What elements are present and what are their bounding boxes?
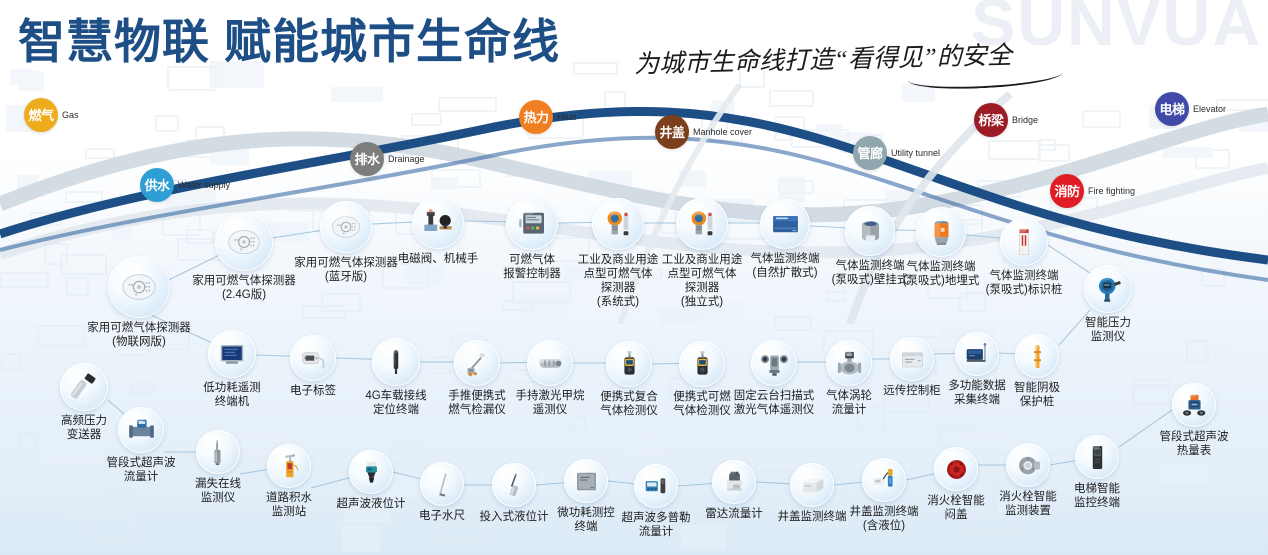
product-node-smart-pressure-monitor[interactable]: 智能压力 监测仪 [1063,265,1153,344]
background-block [503,300,534,311]
brand-watermark: SUNVUA [971,0,1262,60]
badge-heat-pill: 热力 [519,100,553,134]
cathodic-post-icon [1024,343,1051,370]
solenoid-valve-manipulator-bubble[interactable] [412,197,464,249]
electronic-tag-label: 电子标签 [290,384,336,398]
badge-heat-en-label: Heat [557,112,576,122]
background-block [826,291,846,302]
antenna-icon [381,347,411,377]
pipe-ultrasonic-flowmeter-label: 管段式超声波 流量计 [107,456,176,484]
smoke-detector-icon [120,268,158,306]
badge-fire-fighting[interactable]: 消防Fire fighting [1050,174,1135,208]
background-block [1239,114,1268,132]
hydrant-ring-icon [1015,452,1042,479]
portable-multi-gas-detector-bubble[interactable] [606,341,652,387]
smart-cathodic-post-label: 智能阴极 保护桩 [1014,381,1060,409]
poster-canvas: SUNVUA 燃气Gas供水Water supply排水Drainage热力He… [0,0,1268,555]
badge-heat[interactable]: 热力Heat [519,100,576,134]
badge-fire-fighting-pill: 消防 [1050,174,1084,208]
home-gas-detector-bluetooth-bubble[interactable] [320,201,372,253]
badge-bridge-en-label: Bridge [1012,115,1038,125]
background-block [431,177,458,189]
background-block [303,305,345,319]
pipe-flowmeter-icon [127,416,156,445]
product-node-low-power-telemetry-terminal[interactable]: 低功耗遥测 终端机 [187,330,277,409]
laser-gun-icon [536,349,565,378]
controller-panel-icon [516,208,548,240]
smoke-detector-icon [330,211,362,243]
ptz-laser-scanner-label: 固定云台扫描式 激光气体遥测仪 [734,389,815,417]
badge-utility-tunnel-en-label: Utility tunnel [891,148,940,158]
radar-flowmeter-icon [721,469,748,496]
valve-icon [422,207,454,239]
portable-detector-icon [688,350,717,379]
handheld-laser-methane-label: 手持激光甲烷 遥测仪 [516,389,585,417]
home-gas-detector-24g-bubble[interactable] [215,213,273,271]
telemetry-box-icon [217,339,247,369]
background-block [321,293,361,312]
doppler-icon [643,473,670,500]
cabinet-icon [899,346,926,373]
background-block [778,180,814,194]
hydrant-ring-icon [1015,452,1042,479]
rfid-tag-icon [299,344,328,373]
radar-flowmeter-icon [721,469,748,496]
gas-sensor-icon [602,208,634,240]
4g-vehicle-locator-label: 4G车载接线 定位终端 [365,389,426,417]
background-block [1,353,21,370]
background-block [659,308,703,325]
pump-buried-icon [926,217,957,248]
gas-turbine-flowmeter-bubble[interactable] [826,340,872,386]
product-node-4g-vehicle-locator[interactable]: 4G车载接线 定位终端 [350,338,442,417]
data-collector-icon [964,341,991,368]
background-block [573,62,618,75]
low-power-telemetry-terminal-bubble[interactable] [208,330,256,378]
background-block [10,69,34,85]
badge-elevator-pill: 电梯 [1155,92,1189,126]
background-block [0,272,49,288]
submersible-level-meter-label: 投入式液位计 [480,510,549,524]
probe-stick-icon [205,439,232,466]
water-ruler-icon [429,471,456,498]
background-block [679,170,706,187]
solenoid-valve-manipulator-label: 电磁阀、机械手 [398,252,479,266]
background-block [155,115,179,132]
doppler-icon [643,473,670,500]
background-block [331,87,383,102]
ultrasonic-doppler-flowmeter-label: 超声波多普勒 流量计 [622,511,691,539]
background-block [567,416,586,433]
waterlog-station-icon [276,453,303,480]
hydrant-cap-icon [943,456,970,483]
hydrant-cap-icon [943,456,970,483]
background-block [411,113,442,126]
rfid-tag-icon [299,344,328,373]
trolley-detector-icon [463,349,492,378]
pump-wall-icon [855,216,886,247]
hydrant-smart-monitor-label: 消火栓智能 监测装置 [999,490,1057,518]
background-block [769,90,814,107]
smoke-detector-icon [330,211,362,243]
wall-terminal-icon [770,209,801,240]
badge-fire-fighting-en-label: Fire fighting [1088,186,1135,196]
badge-drainage-pill: 排水 [350,142,384,176]
portable-multi-gas-detector-label: 便携式复合 气体检测仪 [600,390,658,418]
level-meter-icon [358,459,385,486]
badge-utility-tunnel[interactable]: 管廊Utility tunnel [853,136,940,170]
background-block [431,169,481,188]
badge-bridge[interactable]: 桥梁Bridge [974,103,1038,137]
multifunction-data-terminal-bubble[interactable] [955,332,999,376]
pump-buried-icon [926,217,957,248]
radar-flowmeter-bubble[interactable] [712,460,756,504]
background-block [195,126,225,147]
industrial-gas-detector-ind-bubble[interactable] [676,198,728,250]
badge-gas-pill: 燃气 [24,98,58,132]
pressure-transmitter-icon [69,372,99,402]
cathodic-post-icon [1024,343,1051,370]
electronic-water-ruler-label: 电子水尺 [419,509,465,523]
background-block [588,171,632,188]
background-block [167,66,217,91]
trolley-detector-icon [463,349,492,378]
electronic-tag-bubble[interactable] [290,335,336,381]
ultrasonic-doppler-flowmeter-bubble[interactable] [634,464,678,508]
ptz-laser-scanner-bubble[interactable] [751,340,797,386]
radar-flowmeter-label: 雷达流量计 [705,507,763,521]
control-box-icon [573,468,600,495]
portable-detector-icon [688,350,717,379]
background-block [65,191,103,203]
road-waterlog-station-label: 道路积水 监测站 [266,491,312,519]
badge-manhole-cover[interactable]: 井盖Manhole cover [655,115,752,149]
level-meter-icon [358,459,385,486]
badge-gas-en-label: Gas [62,110,79,120]
pipe-ultrasonic-heat-meter-label: 管段式超声波 热量表 [1160,430,1229,458]
background-block [131,383,155,395]
background-block [816,124,842,142]
probe-stick-icon [205,439,232,466]
4g-vehicle-locator-bubble[interactable] [372,338,420,386]
pressure-transmitter-icon [69,372,99,402]
product-node-elevator-smart-terminal[interactable]: 电梯智能 监控终端 [1053,435,1141,510]
valve-icon [422,207,454,239]
ptz-camera-icon [760,349,789,378]
badge-drainage-en-label: Drainage [388,154,425,164]
gas-monitor-pump-post-label: 气体监测终端 (泵吸式)标识桩 [986,269,1063,297]
turbine-flowmeter-icon [835,349,864,378]
pipe-flowmeter-icon [127,416,156,445]
background-block [85,148,115,159]
telemetry-box-icon [217,339,247,369]
road-waterlog-station-bubble[interactable] [267,444,311,488]
wall-terminal-icon [770,209,801,240]
data-collector-icon [964,341,991,368]
cabinet-icon [899,346,926,373]
manhole-monitor-terminal-bubble[interactable] [790,463,834,507]
background-block [1201,268,1225,287]
background-block [774,316,812,331]
push-gas-leak-detector-bubble[interactable] [454,340,500,386]
manhole-level-icon [871,467,898,494]
background-block [112,226,132,239]
antenna-icon [381,347,411,377]
portable-detector-icon [615,350,644,379]
background-block [19,432,36,451]
badge-bridge-pill: 桥梁 [974,103,1008,137]
submersible-icon [501,472,528,499]
background-block [977,180,1021,198]
background-block [1038,144,1070,162]
gas-monitor-diffusion-label: 气体监测终端 (自然扩散式) [751,252,820,280]
manhole-monitor-level-label: 井盖监测终端 (含液位) [850,505,919,533]
leak-online-monitor-label: 漏失在线 监测仪 [195,477,241,505]
elevator-smart-terminal-label: 电梯智能 监控终端 [1074,482,1120,510]
background-block [186,139,215,158]
background-block [604,91,626,112]
background-block [988,140,1041,160]
background-block [63,501,124,514]
product-node-electronic-tag[interactable]: 电子标签 [273,335,353,398]
background-block [210,147,249,165]
product-node-road-waterlog-station[interactable]: 道路积水 监测站 [246,444,332,519]
background-block [938,428,977,446]
background-block [18,71,44,91]
hydrant-smart-cap-label: 消火栓智能 闷盖 [927,494,985,522]
badge-utility-tunnel-pill: 管廊 [853,136,887,170]
smoke-detector-icon [226,224,262,260]
control-box-icon [573,468,600,495]
badge-water-supply-en-label: Water supply [178,180,230,190]
background-block [1202,346,1233,362]
smart-pressure-monitor-bubble[interactable] [1084,265,1132,313]
ultrasonic-level-meter-label: 超声波液位计 [337,497,406,511]
home-gas-detector-iot-label: 家用可燃气体探测器 (物联网版) [87,321,191,349]
pressure-gauge-icon [1093,274,1123,304]
gas-alarm-controller-bubble[interactable] [506,198,558,250]
elevator-smart-terminal-bubble[interactable] [1075,435,1119,479]
pipe-ultrasonic-heat-meter-bubble[interactable] [1172,383,1216,427]
gas-sensor-icon [686,208,718,240]
background-block [1082,110,1121,128]
smart-cathodic-post-bubble[interactable] [1015,334,1059,378]
home-gas-detector-iot-bubble[interactable] [108,256,170,318]
background-block [885,190,928,203]
smart-pressure-monitor-label: 智能压力 监测仪 [1085,316,1131,344]
gas-turbine-flowmeter-label: 气体涡轮 流量计 [826,389,872,417]
manhole-terminal-icon [799,472,826,499]
waterlog-station-icon [276,453,303,480]
badge-elevator[interactable]: 电梯Elevator [1155,92,1226,126]
pressure-gauge-icon [1093,274,1123,304]
background-block [438,97,497,112]
handheld-laser-methane-bubble[interactable] [527,340,573,386]
low-power-telemetry-terminal-label: 低功耗遥测 终端机 [203,381,261,409]
background-block [1038,139,1056,151]
background-block [1186,340,1209,362]
badge-water-supply[interactable]: 供水Water supply [140,168,230,202]
heat-meter-icon [1181,392,1208,419]
background-block [520,294,568,318]
page-subtitle: 为城市生命线打造“看得见”的安全 [634,35,1013,80]
marker-post-icon [1009,227,1039,257]
background-block [775,116,805,134]
smoke-detector-icon [226,224,262,260]
submersible-icon [501,472,528,499]
high-freq-pressure-transmitter-bubble[interactable] [60,363,108,411]
badge-manhole-cover-pill: 井盖 [655,115,689,149]
hydrant-smart-cap-bubble[interactable] [934,447,978,491]
pipe-ultrasonic-flowmeter-bubble[interactable] [118,407,164,453]
background-block [1162,147,1213,158]
elevator-terminal-icon [1084,444,1111,471]
controller-panel-icon [516,208,548,240]
water-ruler-icon [429,471,456,498]
manhole-level-icon [871,467,898,494]
badge-manhole-cover-en-label: Manhole cover [693,127,752,137]
background-block [774,127,791,141]
gas-monitor-pump-post-bubble[interactable] [1000,218,1048,266]
smoke-detector-icon [120,268,158,306]
gas-monitor-pump-buried-bubble[interactable] [916,207,966,257]
background-block [631,435,666,455]
push-gas-leak-detector-label: 手推便携式 燃气检漏仪 [448,389,506,417]
remote-control-cabinet-bubble[interactable] [890,337,934,381]
background-block [506,165,540,177]
hydrant-smart-monitor-bubble[interactable] [1006,443,1050,487]
elevator-terminal-icon [1084,444,1111,471]
leak-online-monitor-bubble[interactable] [196,430,240,474]
background-block [94,517,136,538]
manhole-monitor-level-bubble[interactable] [862,458,906,502]
badge-drainage[interactable]: 排水Drainage [350,142,425,176]
ultrasonic-level-meter-bubble[interactable] [349,450,393,494]
badge-elevator-en-label: Elevator [1193,104,1226,114]
marker-post-icon [1009,227,1039,257]
portable-detector-icon [615,350,644,379]
background-block [17,175,39,191]
background-block [30,212,62,226]
gas-alarm-controller-label: 可燃气体 报警控制器 [503,253,561,281]
product-node-pipe-ultrasonic-heat-meter[interactable]: 管段式超声波 热量表 [1144,383,1244,458]
gas-sensor-icon [602,208,634,240]
ptz-camera-icon [760,349,789,378]
product-node-smart-cathodic-post[interactable]: 智能阴极 保护桩 [994,334,1080,409]
background-block [342,525,380,552]
pump-wall-icon [855,216,886,247]
gas-sensor-icon [686,208,718,240]
submersible-level-meter-bubble[interactable] [492,463,536,507]
background-block [791,129,849,148]
badge-gas[interactable]: 燃气Gas [24,98,79,132]
turbine-flowmeter-icon [835,349,864,378]
gas-monitor-diffusion-bubble[interactable] [760,199,810,249]
heat-meter-icon [1181,392,1208,419]
electronic-water-ruler-bubble[interactable] [420,462,464,506]
badge-water-supply-pill: 供水 [140,168,174,202]
industrial-gas-detector-sys-bubble[interactable] [592,198,644,250]
background-block [1195,149,1230,169]
micro-power-control-terminal-bubble[interactable] [564,459,608,503]
manhole-terminal-icon [799,472,826,499]
background-block [1159,464,1209,485]
laser-gun-icon [536,349,565,378]
page-title: 智慧物联 赋能城市生命线 [18,18,560,65]
